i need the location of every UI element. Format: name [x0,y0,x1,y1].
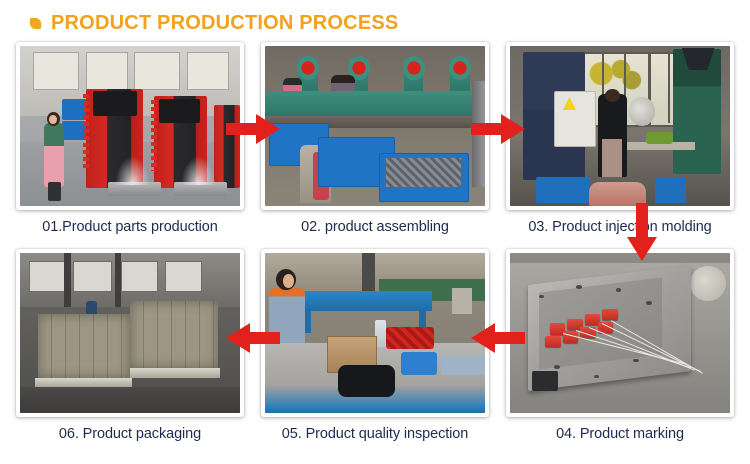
step-03-caption: 03. Product injection molding [498,219,742,235]
step-02-photo [265,46,485,206]
step-06-photo [20,253,240,413]
arrow-left-icon-step4-to-step5 [471,321,525,355]
process-step-02[interactable]: 02. product assembling [253,42,497,235]
step-05-caption: 05. Product quality inspection [253,426,497,442]
step-01-photo [20,46,240,206]
step-02-photo-frame [261,42,489,210]
step-01-caption: 01.Product parts production [8,219,252,235]
arrow-right-icon-step2-to-step3 [471,112,525,146]
step-03-photo [510,46,730,206]
arrow-right-icon-step1-to-step2 [226,112,280,146]
process-step-05[interactable]: 05. Product quality inspection [253,249,497,442]
step-04-photo [510,253,730,413]
page-title: PRODUCT PRODUCTION PROCESS [30,8,398,38]
step-03-photo-frame [506,42,734,210]
step-06-caption: 06. Product packaging [8,426,252,442]
process-step-03[interactable]: 03. Product injection molding [498,42,742,235]
step-04-photo-frame [506,249,734,417]
step-04-caption: 04. Product marking [498,426,742,442]
product-process-infographic: PRODUCT PRODUCTION PROCESS [0,0,750,464]
step-02-caption: 02. product assembling [253,219,497,235]
arrow-left-icon-step5-to-step6 [226,321,280,355]
step-05-photo-frame [261,249,489,417]
step-05-photo [265,253,485,413]
diamond-bullet-icon [30,18,41,29]
process-step-01[interactable]: 01.Product parts production [8,42,252,235]
step-06-photo-frame [16,249,244,417]
page-title-text: PRODUCT PRODUCTION PROCESS [51,12,398,35]
process-step-04[interactable]: 04. Product marking [498,249,742,442]
process-step-06[interactable]: 06. Product packaging [8,249,252,442]
arrow-down-icon-step3-to-step4 [625,203,659,261]
step-01-photo-frame [16,42,244,210]
